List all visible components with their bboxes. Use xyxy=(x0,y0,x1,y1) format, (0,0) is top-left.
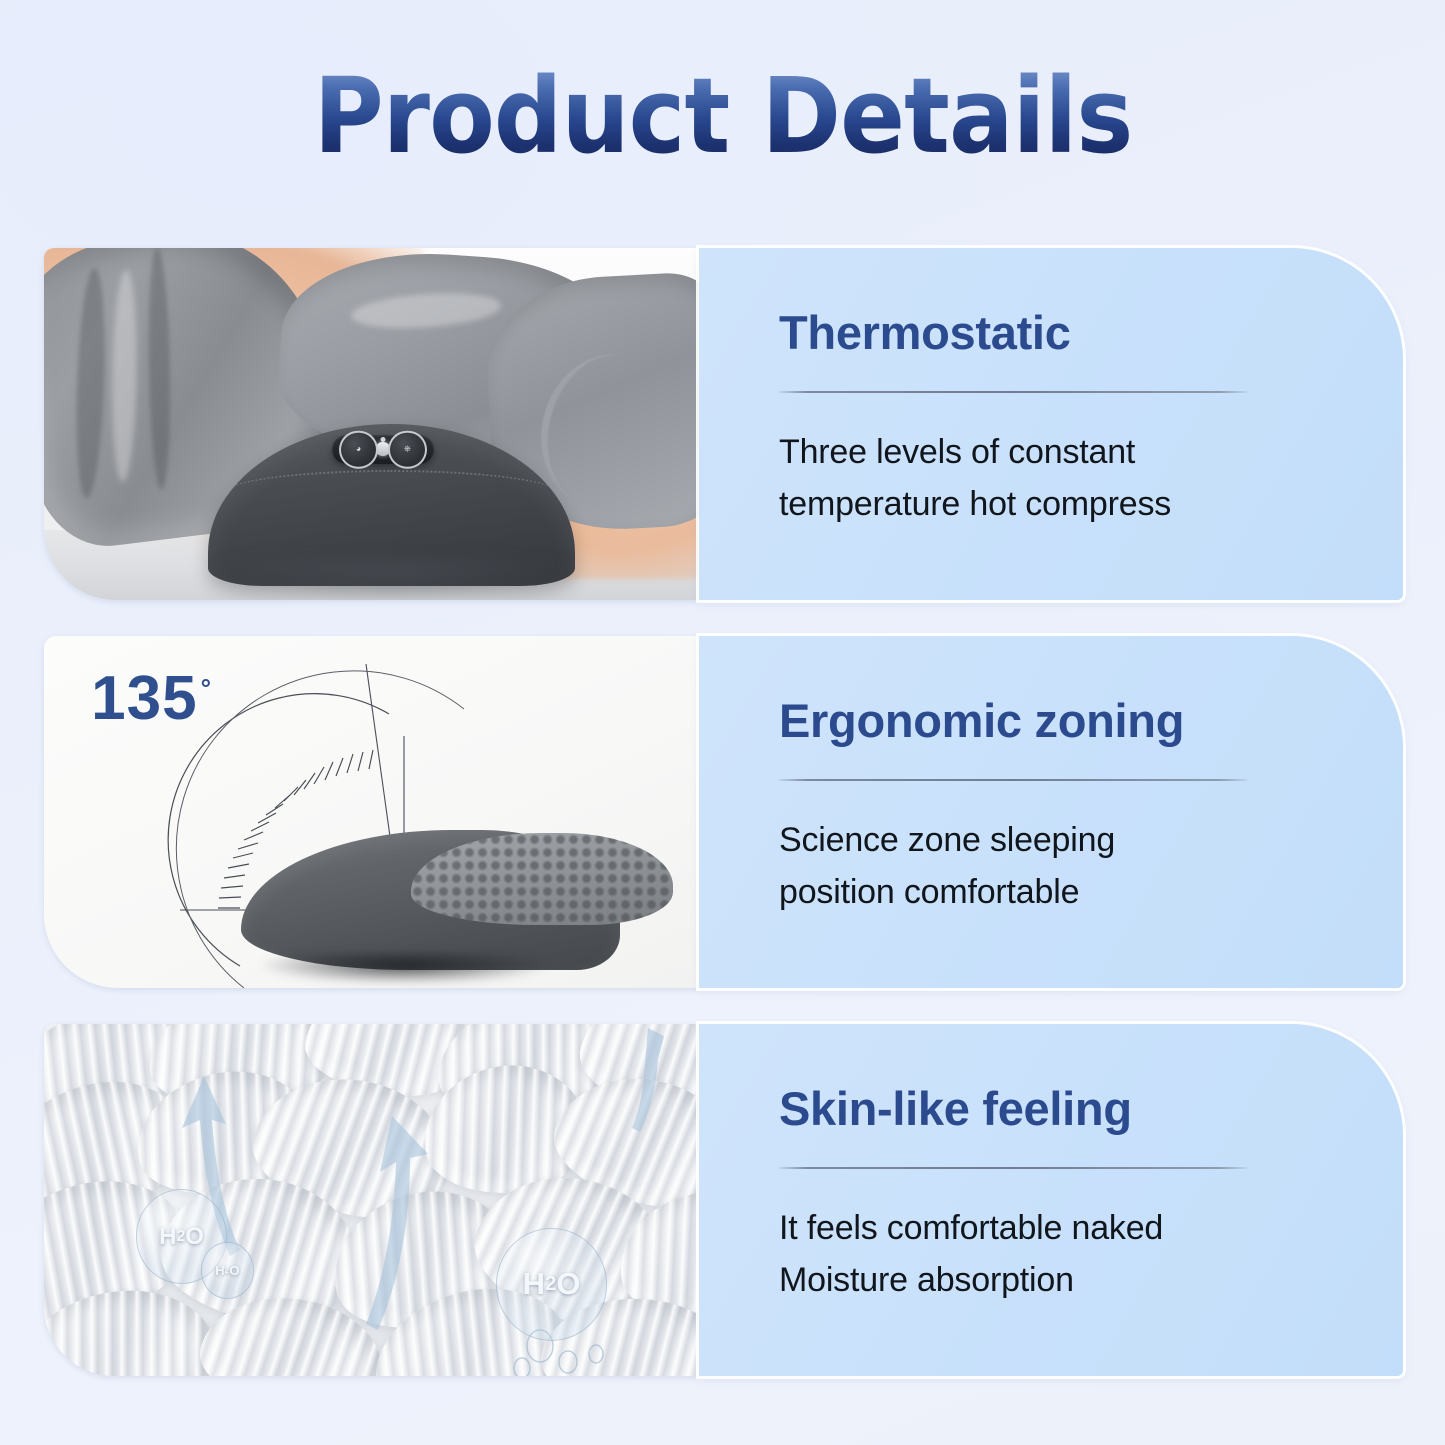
feature-card-thermostatic: ◕ ⎈ Thermostatic Three levels of constan… xyxy=(44,248,1403,600)
stitch-seam xyxy=(221,470,562,519)
feature-description: Three levels of constant temperature hot… xyxy=(779,427,1299,530)
fabric-highlight xyxy=(111,270,139,482)
feature-image-ergonomic-zoning: 135° xyxy=(44,636,699,988)
moisture-bubble-label: H2O xyxy=(201,1242,253,1298)
h2o-sub: 2 xyxy=(176,1228,185,1246)
feature-description-line-1: It feels comfortable naked xyxy=(779,1203,1299,1255)
feature-heading: Ergonomic zoning xyxy=(779,696,1403,745)
angle-value-label: 135° xyxy=(91,668,212,730)
heading-divider xyxy=(779,1167,1247,1169)
angle-number: 135 xyxy=(91,664,197,733)
feature-image-skin-like-feeling: H2O H2O H2O xyxy=(44,1024,699,1376)
angle-diagram-illustration: 135° xyxy=(44,636,699,988)
page-title-wrap: Product Details xyxy=(0,62,1445,171)
feature-description: Science zone sleeping position comfortab… xyxy=(779,815,1299,918)
fabric-fold xyxy=(147,248,172,490)
feature-description-line-2: position comfortable xyxy=(779,867,1299,919)
pillow-dimple-zone xyxy=(411,833,673,925)
yarn-texture-illustration: H2O H2O H2O xyxy=(44,1024,699,1376)
pillow-base-shadow xyxy=(201,558,581,600)
status-led-dot xyxy=(380,437,385,442)
h2o-sub: 2 xyxy=(545,1272,556,1296)
pillow-profile-shadow xyxy=(260,953,548,985)
massage-button-icon[interactable]: ◕ xyxy=(339,430,378,469)
feature-text-panel-ergonomic-zoning: Ergonomic zoning Science zone sleeping p… xyxy=(699,636,1403,988)
h2o-tail: O xyxy=(556,1266,580,1302)
heated-pillow-illustration: ◕ ⎈ xyxy=(44,248,699,600)
feature-description: It feels comfortable naked Moisture abso… xyxy=(779,1203,1299,1306)
feature-description-line-2: temperature hot compress xyxy=(779,479,1299,531)
feature-text-panel-skin-like-feeling: Skin-like feeling It feels comfortable n… xyxy=(699,1024,1403,1376)
feature-card-skin-like-feeling: H2O H2O H2O Skin-like feeling It feels c… xyxy=(44,1024,1403,1376)
moisture-bubble-label: H2O xyxy=(496,1228,607,1341)
page-title: Product Details xyxy=(313,62,1132,171)
control-pad[interactable]: ◕ ⎈ xyxy=(332,435,434,465)
feature-heading: Skin-like feeling xyxy=(779,1084,1403,1133)
feature-text-panel-thermostatic: Thermostatic Three levels of constant te… xyxy=(699,248,1403,600)
angle-ray xyxy=(366,664,392,851)
feature-card-ergonomic-zoning: 135° Ergonomic zoning Science zone sleep… xyxy=(44,636,1403,988)
feature-description-line-2: Moisture absorption xyxy=(779,1255,1299,1307)
product-details-page: Product Details xyxy=(0,0,1445,1445)
heading-divider xyxy=(779,779,1247,781)
feature-description-line-1: Science zone sleeping xyxy=(779,815,1299,867)
feature-image-thermostatic: ◕ ⎈ xyxy=(44,248,699,600)
h2o-tail: O xyxy=(229,1263,239,1278)
power-button-icon[interactable]: ⎈ xyxy=(388,430,427,469)
h2o-lead: H xyxy=(523,1266,545,1302)
degree-symbol-icon: ° xyxy=(201,673,212,703)
fabric-highlight xyxy=(350,289,502,332)
feature-heading: Thermostatic xyxy=(779,308,1403,357)
h2o-lead: H xyxy=(215,1263,224,1278)
h2o-tail: O xyxy=(185,1223,204,1251)
heading-divider xyxy=(779,391,1247,393)
h2o-lead: H xyxy=(159,1223,176,1251)
feature-description-line-1: Three levels of constant xyxy=(779,427,1299,479)
fabric-fold xyxy=(74,268,109,499)
